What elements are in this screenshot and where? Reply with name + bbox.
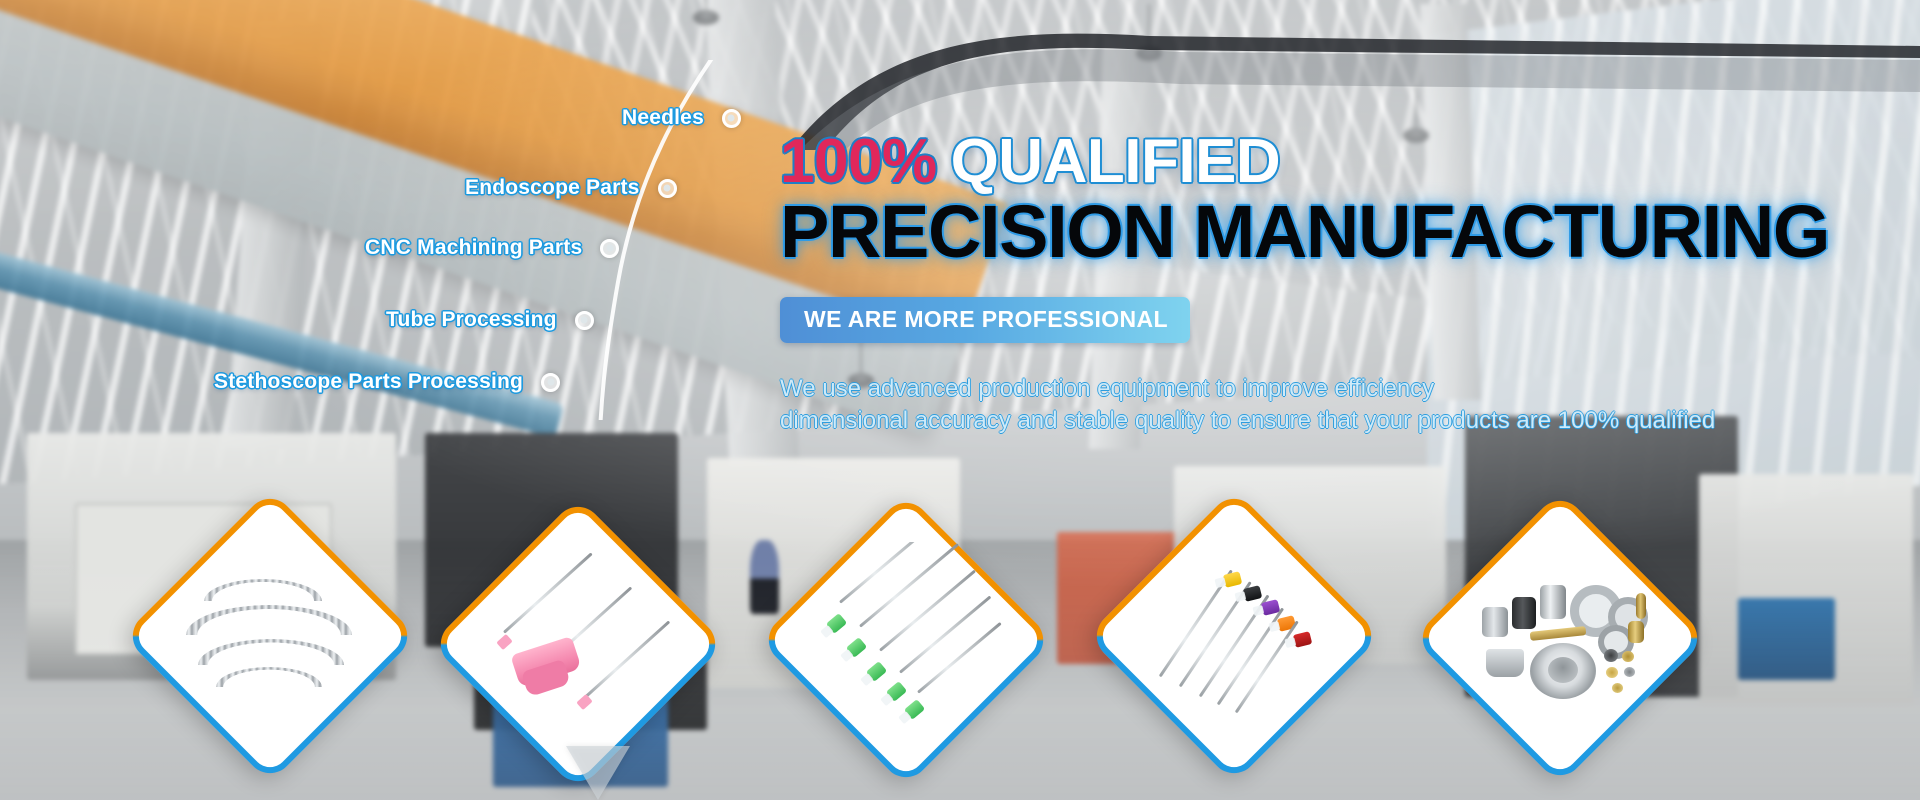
sidebar-item-label: Needles xyxy=(622,106,704,130)
sidebar-item-needles[interactable]: Needles xyxy=(622,106,741,130)
sidebar-item-label: CNC Machining Parts xyxy=(365,236,582,260)
sidebar-item-label: Stethoscope Parts Processing xyxy=(214,370,523,394)
sidebar-item-cnc-machining-parts[interactable]: CNC Machining Parts xyxy=(365,236,619,260)
product-image-green-hub-needles xyxy=(818,565,994,715)
product-image-pink-biopsy-needle xyxy=(490,569,666,719)
hero-description: We use advanced production equipment to … xyxy=(780,373,1900,437)
sidebar-item-label: Tube Processing xyxy=(386,308,557,332)
headline-qualified: QUALIFIED xyxy=(951,127,1281,196)
product-card-cnc-machined-parts[interactable] xyxy=(1413,491,1707,785)
hero-banner: Needles Endoscope Parts CNC Machining Pa… xyxy=(0,0,1920,800)
circle-marker-icon xyxy=(658,179,677,198)
page-title: 100%QUALIFIED xyxy=(780,130,1900,193)
sidebar-item-tube-processing[interactable]: Tube Processing xyxy=(386,308,594,332)
product-card-strip xyxy=(0,470,1920,800)
circle-marker-icon xyxy=(575,311,594,330)
product-image-colored-hub-needles xyxy=(1146,561,1322,711)
hero-copy: 100%QUALIFIED PRECISION MANUFACTURING WE… xyxy=(780,130,1900,438)
product-image-cnc-machined-parts xyxy=(1472,563,1648,713)
status-badge: WE ARE MORE PROFESSIONAL xyxy=(780,297,1190,343)
hero-description-line-2: dimensional accuracy and stable quality … xyxy=(780,405,1900,437)
headline-percent: 100% xyxy=(780,127,937,196)
product-category-nav: Needles Endoscope Parts CNC Machining Pa… xyxy=(0,0,640,420)
circle-marker-icon xyxy=(722,109,741,128)
circle-marker-icon xyxy=(600,239,619,258)
down-arrow-icon[interactable] xyxy=(566,746,630,800)
sidebar-item-label: Endoscope Parts xyxy=(465,176,640,200)
sidebar-item-endoscope-parts[interactable]: Endoscope Parts xyxy=(465,176,677,200)
product-card-colored-hub-needles[interactable] xyxy=(1087,489,1381,783)
circle-marker-icon xyxy=(541,373,560,392)
product-card-coiled-metal-tubes[interactable] xyxy=(123,489,417,783)
hero-description-line-1: We use advanced production equipment to … xyxy=(780,373,1900,405)
product-image-coiled-metal-tubes xyxy=(182,561,358,711)
sidebar-item-stethoscope-parts-processing[interactable]: Stethoscope Parts Processing xyxy=(214,370,560,394)
page-subtitle: PRECISION MANUFACTURING xyxy=(780,195,1900,269)
product-card-green-hub-needles[interactable] xyxy=(759,493,1053,787)
